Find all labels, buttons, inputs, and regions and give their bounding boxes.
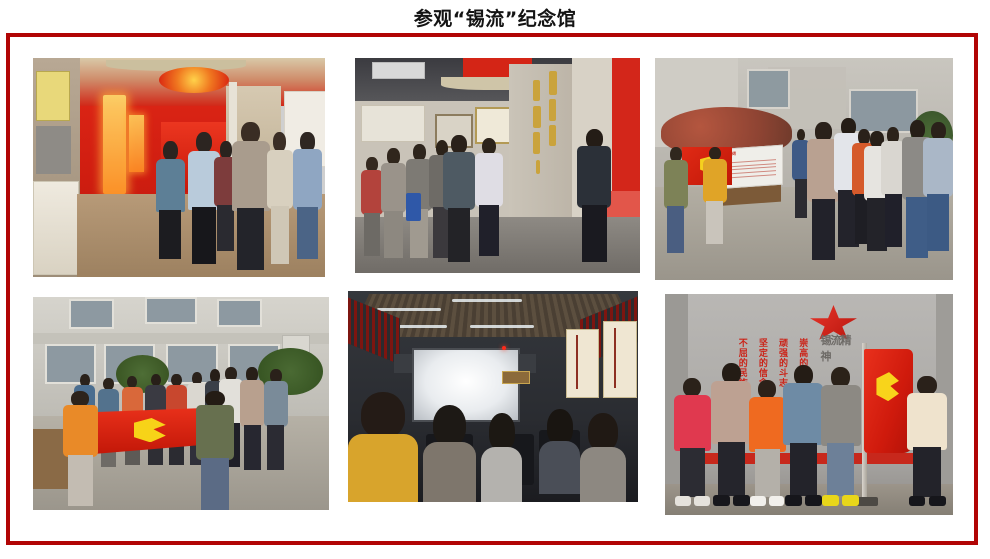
- wall-title-xiliu: 锡流精神: [821, 332, 858, 359]
- member-figure: [703, 147, 727, 245]
- neon-sign-column-2: [129, 115, 144, 172]
- display-case: [33, 181, 79, 275]
- visitor-figure: [381, 148, 407, 258]
- collage-page: 参观“锡流”纪念馆: [0, 0, 990, 559]
- photo-museum-red-hall[interactable]: [33, 58, 325, 277]
- person-figure: [749, 380, 786, 506]
- photo-screening-room[interactable]: [348, 291, 638, 502]
- member-figure: [923, 122, 953, 251]
- visitor-figure: [443, 135, 474, 262]
- window: [69, 299, 114, 329]
- member-figure: [664, 147, 688, 254]
- party-flag: [864, 349, 913, 453]
- flag-holder-figure: [196, 391, 234, 510]
- exhibit-poster-yellow: [36, 71, 70, 121]
- photo-5-scene: [348, 291, 638, 502]
- person-figure: [674, 378, 711, 506]
- visitor-figure: [293, 132, 322, 259]
- audience-figure: [423, 405, 475, 502]
- red-wall-panel: [612, 58, 641, 191]
- visitor-figure: [232, 122, 270, 271]
- calligraphy-text: [520, 71, 566, 183]
- audience-figure: [348, 392, 418, 502]
- window: [145, 297, 196, 324]
- guide-figure: [577, 129, 611, 262]
- speaker: [394, 354, 411, 373]
- person-figure: [711, 363, 751, 507]
- photo-outdoor-oath-tablet[interactable]: 入党誓词: [655, 58, 953, 280]
- audience-figure: [539, 409, 580, 493]
- photo-6-scene: 锡流精神 不屈的民族 坚定的信念 顽强的斗志 崇高的理想: [665, 294, 953, 515]
- member-figure-fist: [240, 367, 264, 469]
- page-title: 参观“锡流”纪念馆: [414, 4, 576, 31]
- ceiling-light: [470, 325, 534, 328]
- photo-group-party-flag[interactable]: 锡流精神 不屈的民族 坚定的信念 顽强的斗志 崇高的理想: [665, 294, 953, 515]
- photo-outdoor-flag-oath[interactable]: [33, 297, 329, 510]
- flag-holder-figure: [63, 391, 99, 506]
- person-figure: [783, 365, 823, 506]
- name-list-board: [361, 105, 426, 141]
- photo-2-scene: [355, 58, 640, 273]
- ceiling-light: [452, 299, 522, 302]
- visitor-figure: [475, 138, 504, 256]
- exhibit-photo-grey: [36, 126, 71, 174]
- audience-figure: [580, 413, 626, 502]
- window: [217, 299, 262, 326]
- photo-museum-guide-briefing[interactable]: [355, 58, 640, 273]
- page-title-bar: 参观“锡流”纪念馆: [0, 0, 990, 34]
- window: [747, 69, 790, 109]
- indicator-led: [502, 346, 506, 350]
- audience-figure: [481, 413, 522, 502]
- hammer-sickle-emblem: [134, 418, 166, 442]
- tote-bag: [406, 193, 420, 221]
- air-vent: [372, 62, 425, 79]
- hammer-sickle-emblem: [876, 372, 899, 401]
- visitor-figure: [267, 132, 293, 263]
- person-figure: [821, 367, 861, 506]
- person-figure: [907, 376, 947, 506]
- hanging-scroll: [566, 329, 600, 399]
- member-figure-fist: [264, 369, 288, 469]
- wall-plaque: [502, 371, 530, 384]
- photo-1-scene: [33, 58, 325, 277]
- photo-3-scene: 入党誓词: [655, 58, 953, 280]
- hanging-scroll: [603, 321, 637, 399]
- neon-sign-column: [103, 95, 126, 194]
- ceiling-light: [377, 308, 441, 311]
- visitor-figure: [156, 141, 185, 259]
- photo-4-scene: [33, 297, 329, 510]
- party-emblem-ceiling-light: [159, 67, 229, 93]
